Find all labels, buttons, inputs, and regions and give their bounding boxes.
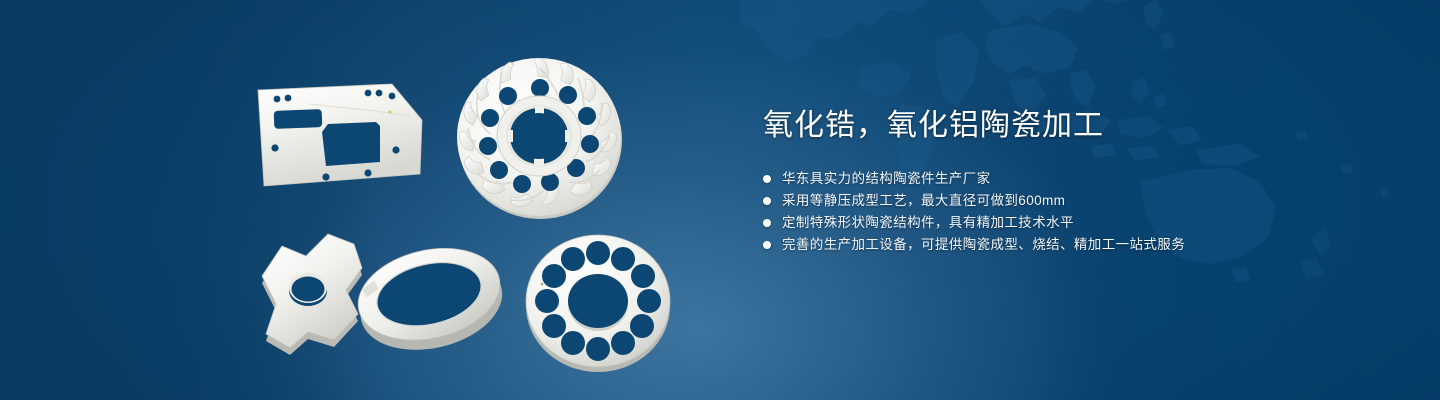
feature-text: 采用等静压成型工艺，最大直径可做到600mm	[782, 190, 1065, 212]
ceramic-disc-image	[518, 228, 683, 378]
feature-list: 华东具实力的结构陶瓷件生产厂家 采用等静压成型工艺，最大直径可做到600mm 定…	[763, 168, 1383, 256]
hero-banner: 氧化锆，氧化铝陶瓷加工 华东具实力的结构陶瓷件生产厂家 采用等静压成型工艺，最大…	[0, 0, 1440, 400]
ceramic-ring-image	[345, 228, 515, 363]
ceramic-impeller-image	[450, 50, 630, 225]
feature-text: 定制特殊形状陶瓷结构件，具有精加工技术水平	[782, 212, 1074, 234]
feature-text: 华东具实力的结构陶瓷件生产厂家	[782, 168, 991, 190]
bullet-dot-icon	[763, 219, 771, 227]
banner-headline: 氧化锆，氧化铝陶瓷加工	[763, 106, 1383, 146]
bullet-dot-icon	[763, 175, 771, 183]
list-item: 华东具实力的结构陶瓷件生产厂家	[763, 168, 1383, 190]
ceramic-plate-image	[250, 78, 440, 193]
feature-text: 完善的生产加工设备，可提供陶瓷成型、烧结、精加工一站式服务	[782, 234, 1185, 256]
list-item: 完善的生产加工设备，可提供陶瓷成型、烧结、精加工一站式服务	[763, 234, 1383, 256]
list-item: 定制特殊形状陶瓷结构件，具有精加工技术水平	[763, 212, 1383, 234]
bullet-dot-icon	[763, 241, 771, 249]
bullet-dot-icon	[763, 197, 771, 205]
banner-text-column: 氧化锆，氧化铝陶瓷加工 华东具实力的结构陶瓷件生产厂家 采用等静压成型工艺，最大…	[763, 106, 1383, 256]
list-item: 采用等静压成型工艺，最大直径可做到600mm	[763, 190, 1383, 212]
product-images-group	[0, 0, 740, 400]
